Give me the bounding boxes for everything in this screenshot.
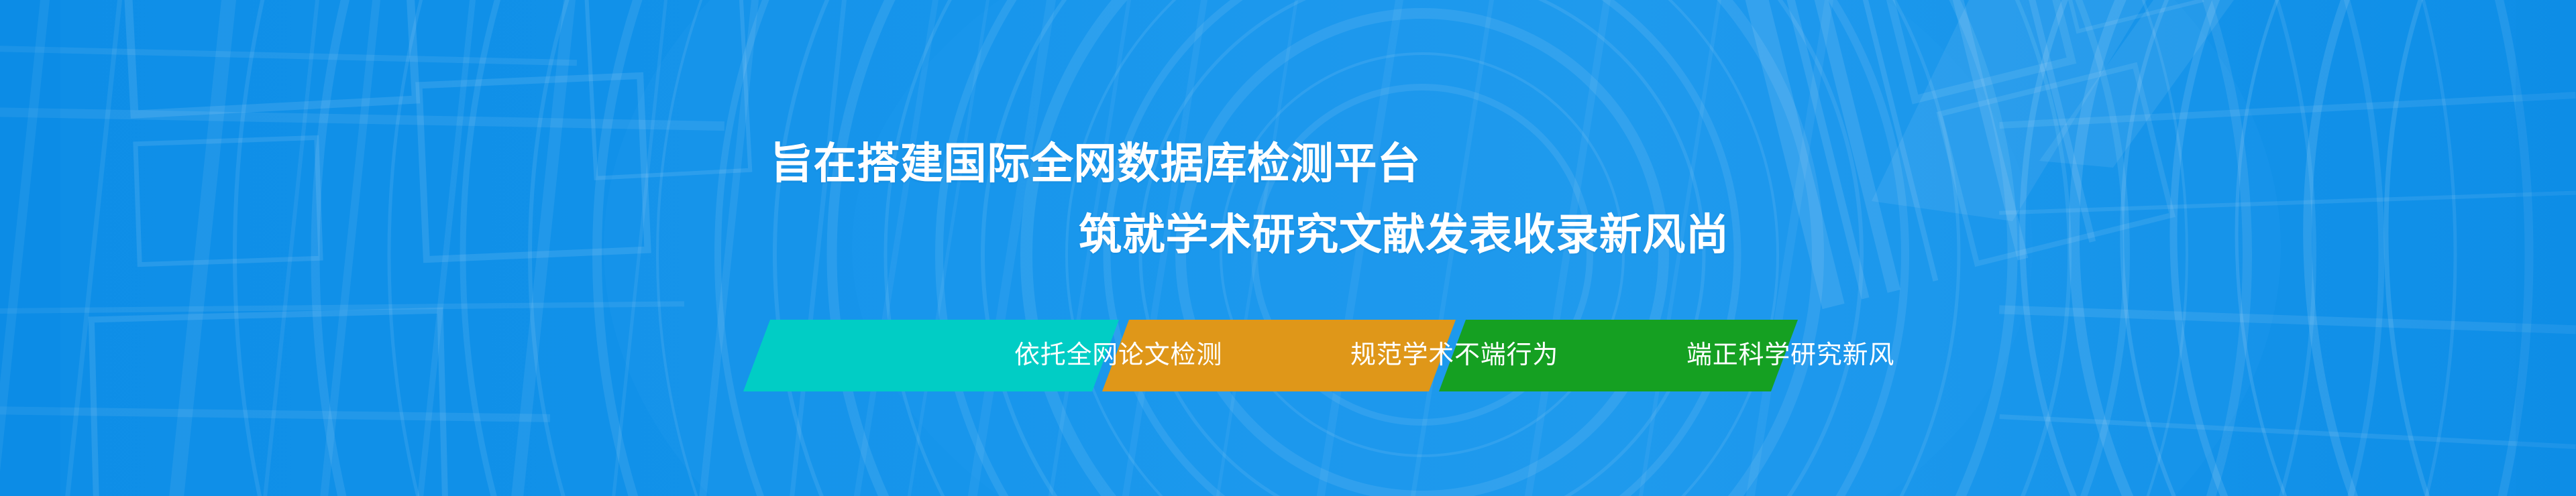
headline-line-2: 筑就学术研究文献发表收录新风尚 bbox=[1079, 213, 1729, 256]
headline-group: 旨在搭建国际全网数据库检测平台 筑就学术研究文献发表收录新风尚 bbox=[0, 0, 2576, 496]
badge-label-2[interactable]: 端正科学研究新风 bbox=[1686, 343, 1894, 368]
promo-banner: 旨在搭建国际全网数据库检测平台 筑就学术研究文献发表收录新风尚 依托全网论文检测… bbox=[0, 0, 2576, 496]
badge-label-0[interactable]: 依托全网论文检测 bbox=[1014, 343, 1222, 368]
feature-badge-strip: 依托全网论文检测 规范学术不端行为 端正科学研究新风 bbox=[743, 320, 1823, 391]
headline-line-1: 旨在搭建国际全网数据库检测平台 bbox=[770, 142, 1421, 185]
badge-label-1[interactable]: 规范学术不端行为 bbox=[1350, 343, 1558, 368]
